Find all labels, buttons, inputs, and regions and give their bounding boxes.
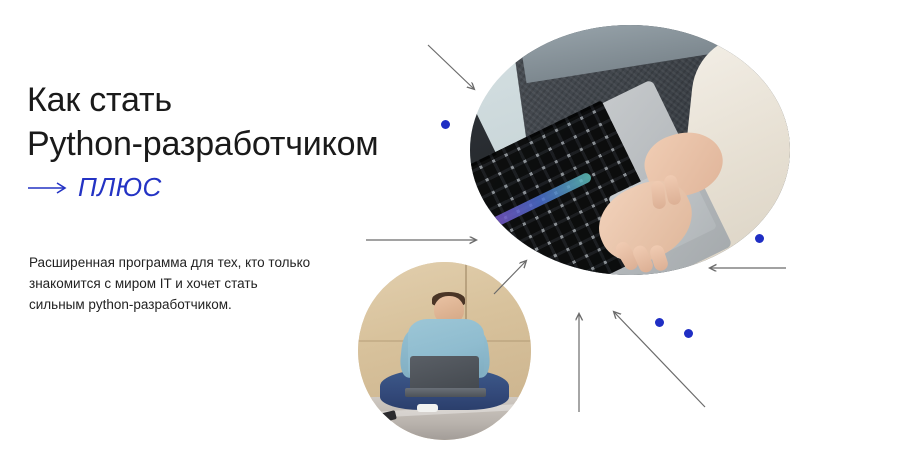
accent-dot-3 [655, 318, 664, 327]
arrow-down-right-top [428, 45, 474, 89]
accent-dot-2 [755, 234, 764, 243]
accent-dot-1 [441, 120, 450, 129]
accent-dot-4 [684, 329, 693, 338]
decorative-arrows [0, 0, 919, 460]
slide-canvas: Как стать Python-разработчиком ПЛЮС Расш… [0, 0, 919, 460]
arrow-up-right-circle [494, 261, 526, 294]
